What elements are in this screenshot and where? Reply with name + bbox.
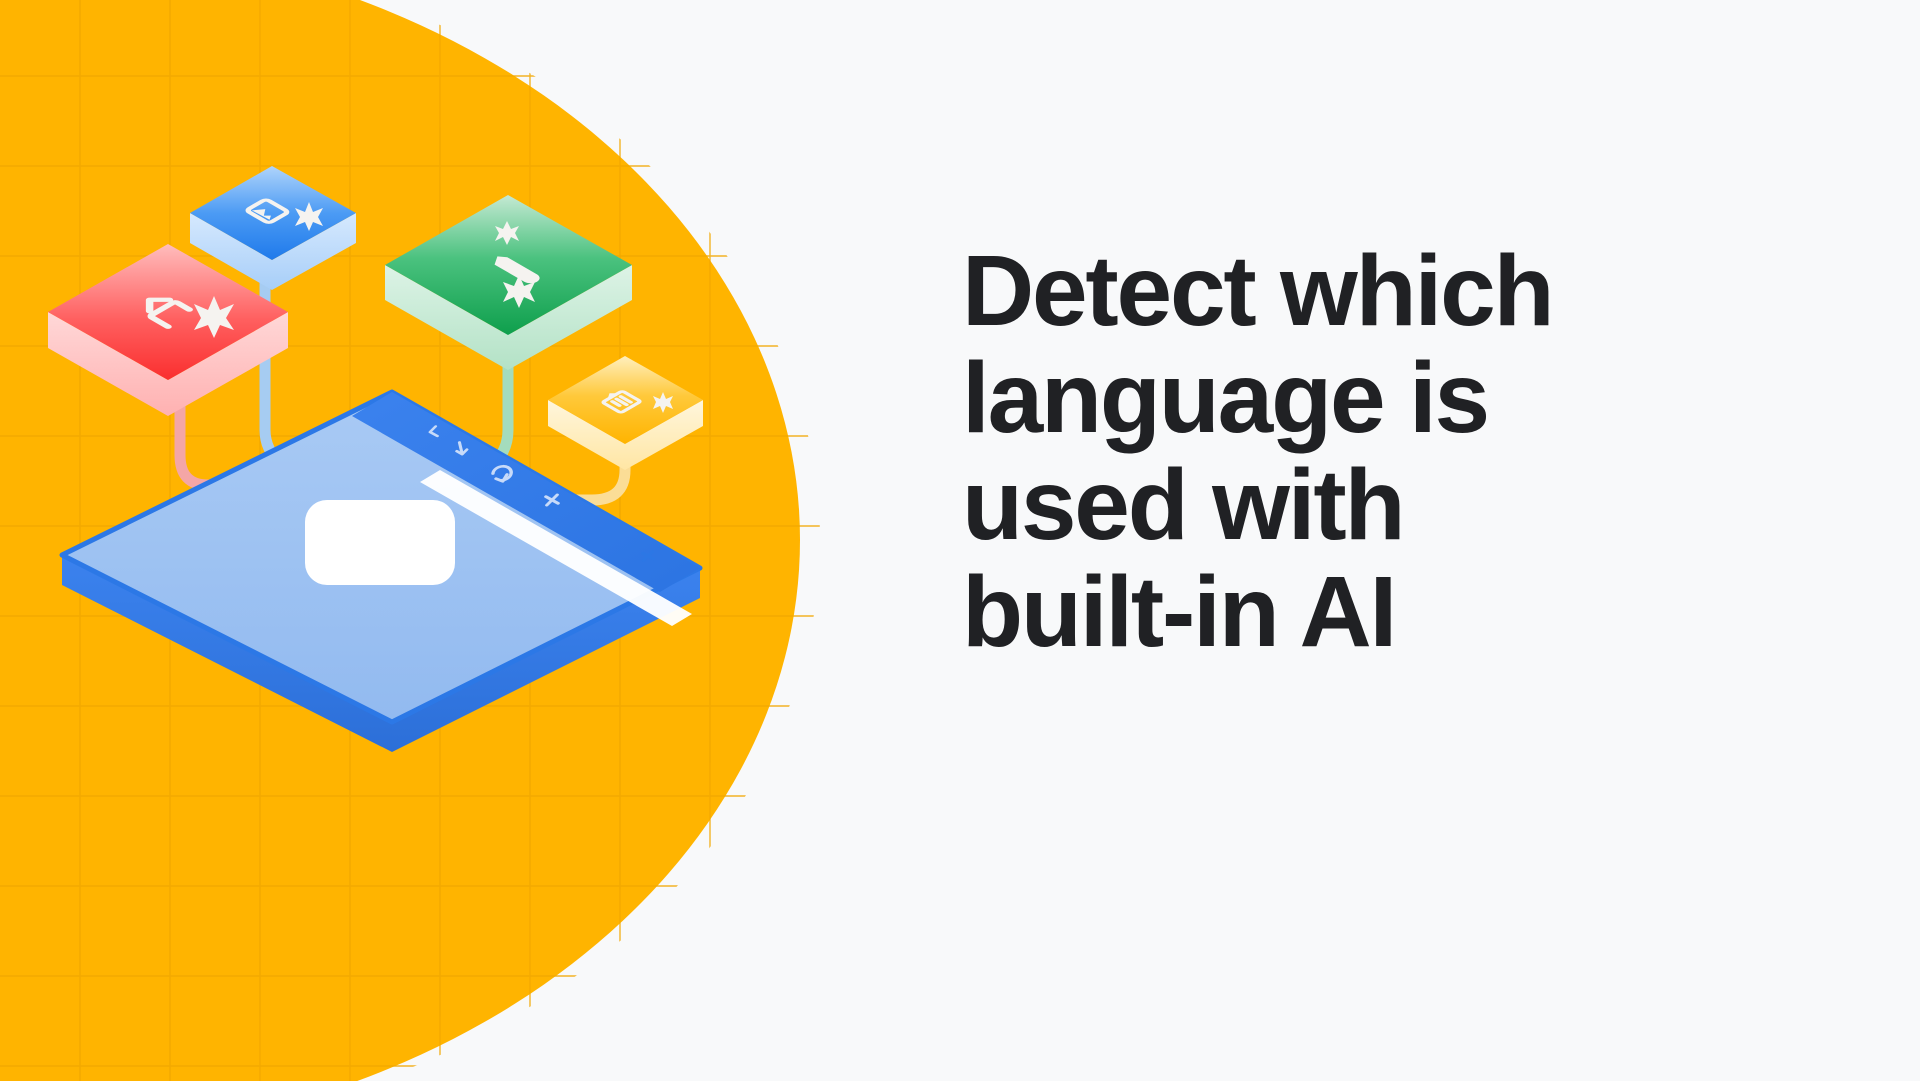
headline-line-4: built-in AI bbox=[962, 559, 1822, 666]
output-card bbox=[305, 500, 455, 585]
api-tile-summarizer[interactable] bbox=[548, 356, 703, 470]
hero-slide: Detect which language is used with built… bbox=[0, 0, 1920, 1081]
api-tile-writer[interactable] bbox=[385, 195, 632, 370]
page-title: Detect which language is used with built… bbox=[962, 238, 1822, 666]
headline-line-1: Detect which bbox=[962, 238, 1822, 345]
isometric-ai-illustration bbox=[0, 0, 820, 1081]
headline-line-2: language is bbox=[962, 345, 1822, 452]
headline-line-3: used with bbox=[962, 452, 1822, 559]
